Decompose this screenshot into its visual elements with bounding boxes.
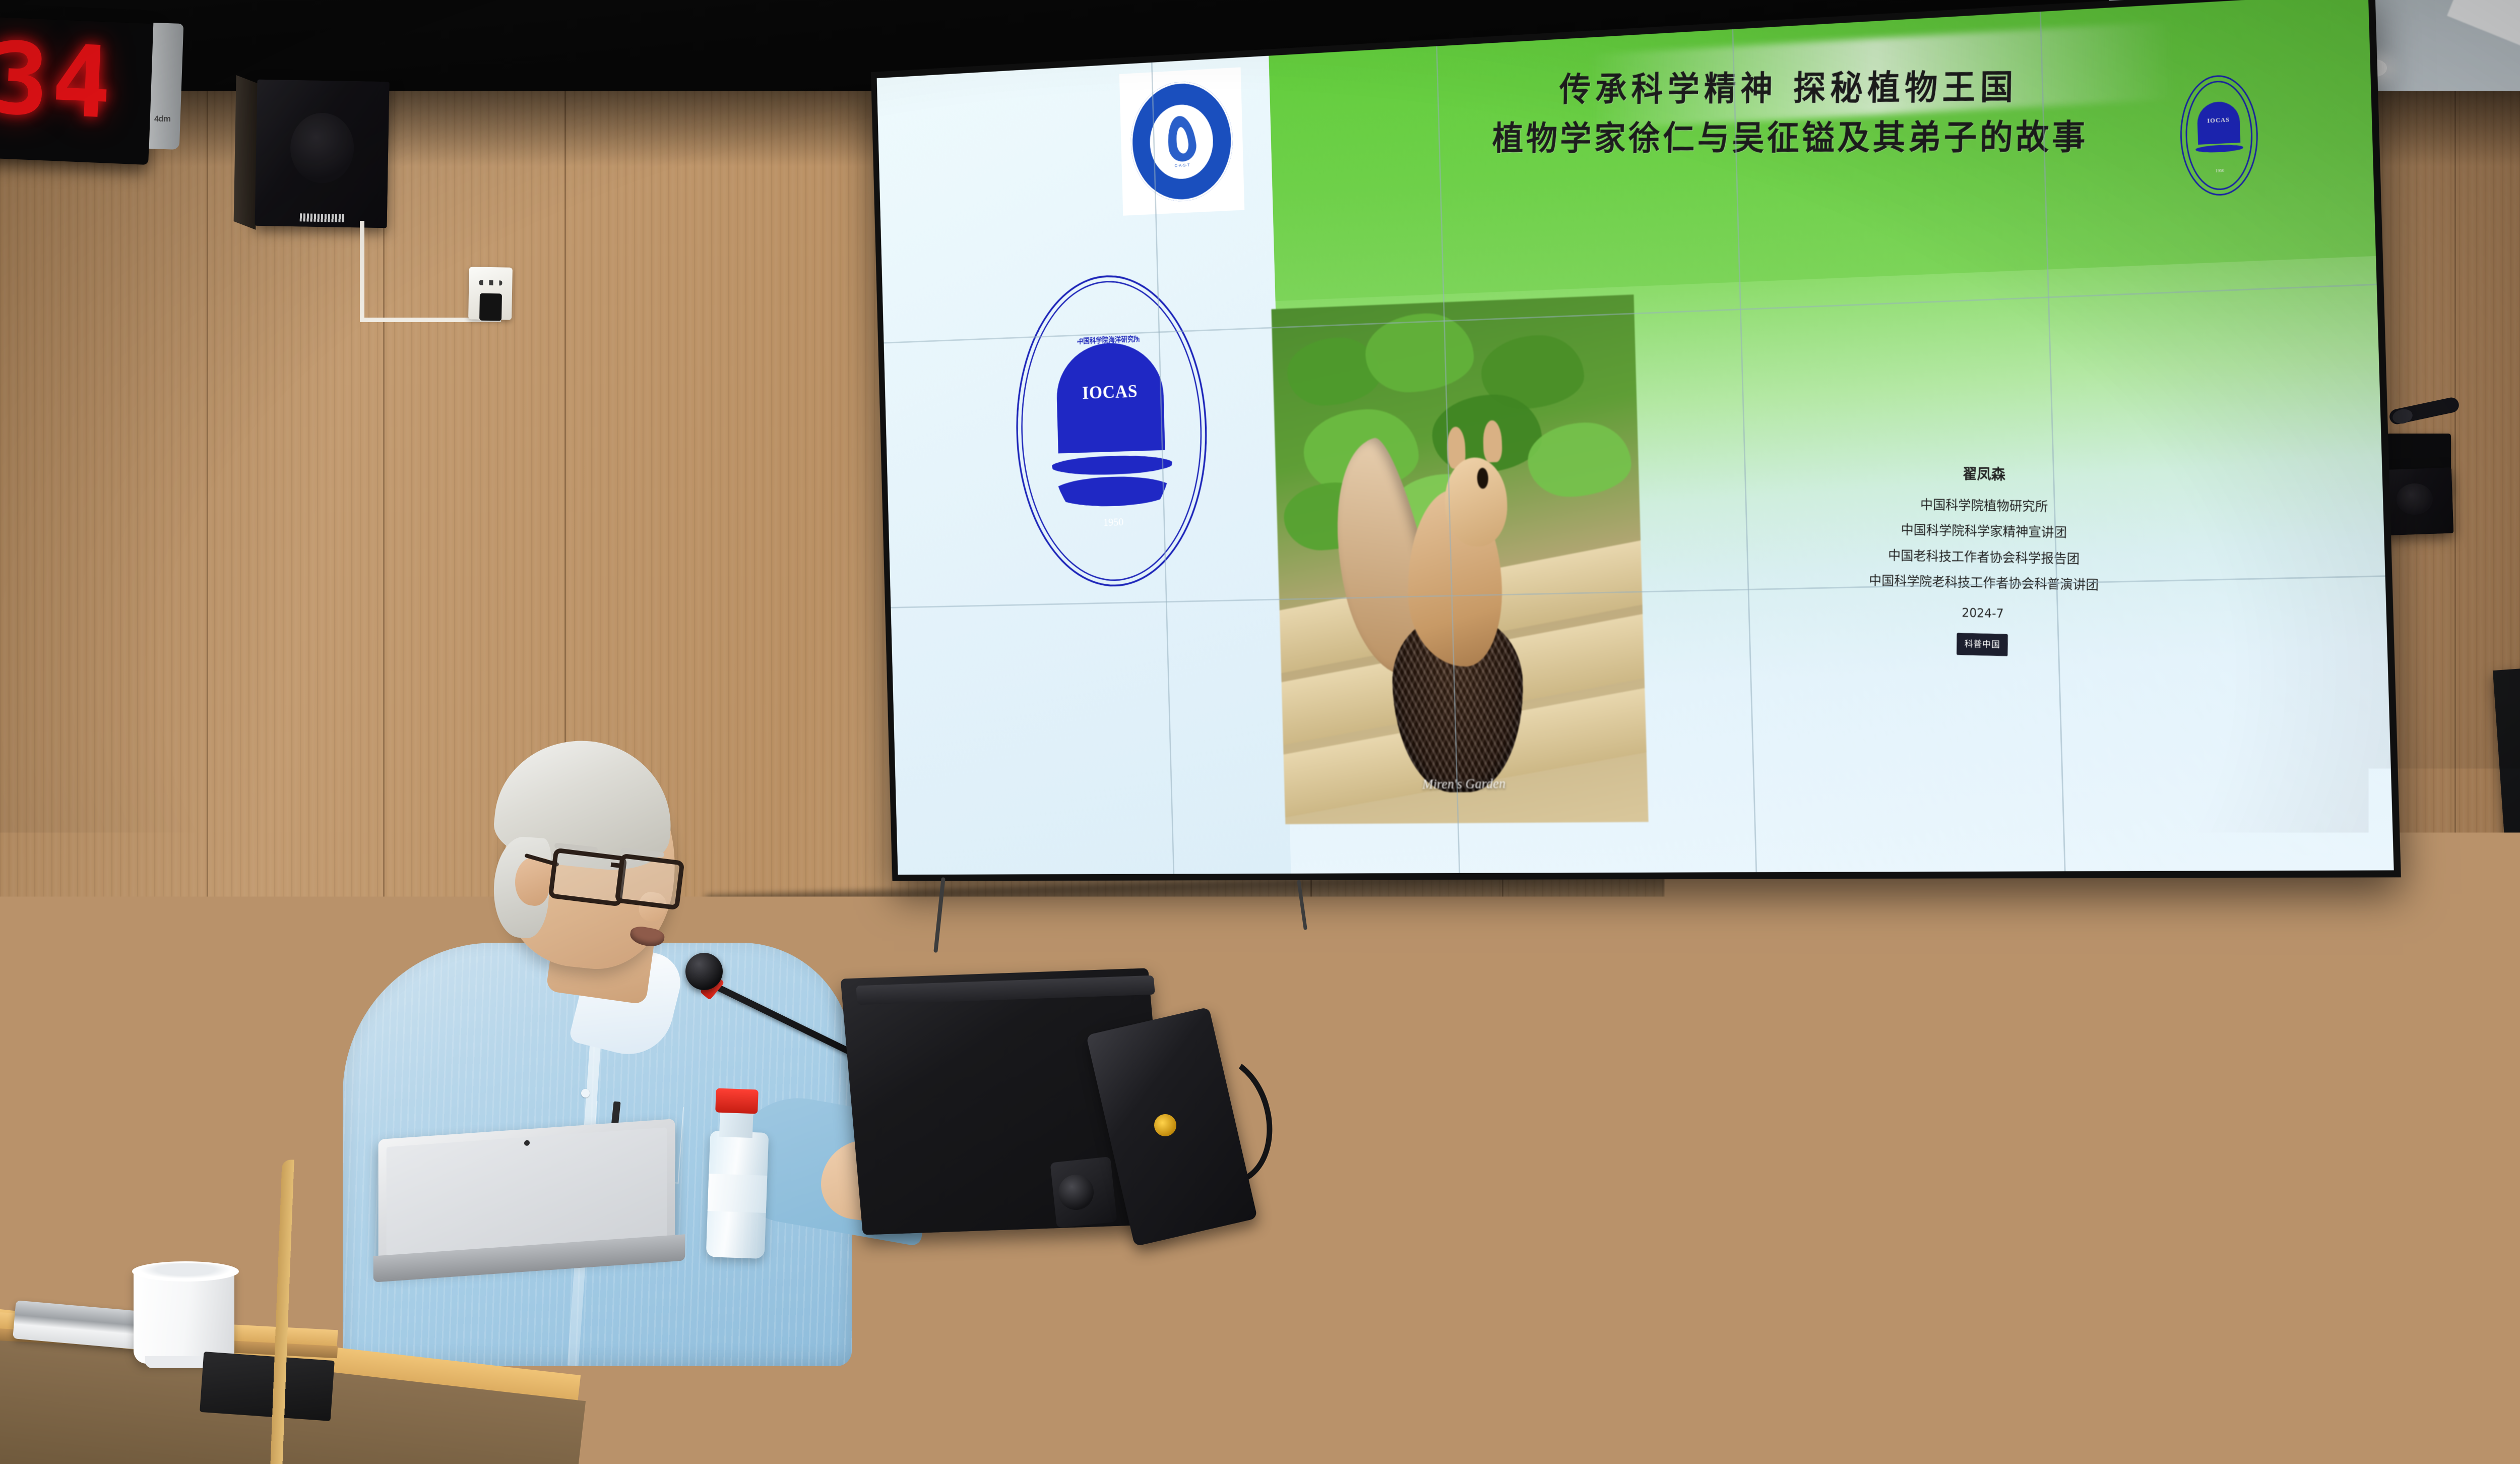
cast-logo-box: C·A·S·T bbox=[1119, 67, 1244, 215]
slide-title-line-2: 植物学家徐仁与吴征镒及其弟子的故事 bbox=[1296, 111, 2305, 163]
digital-wall-clock: 34 bbox=[0, 17, 154, 165]
video-wall-screen: 中国科学院海洋研究所 IOCAS 1950 C·A·S·T bbox=[877, 0, 2394, 875]
outlet-plug bbox=[479, 293, 502, 321]
iocas-wave-2 bbox=[1051, 475, 1174, 508]
microphone-head bbox=[685, 953, 723, 990]
clock-bezel bbox=[149, 23, 184, 150]
bottle-cap[interactable] bbox=[715, 1088, 759, 1114]
iocas-core-small: IOCAS 1950 bbox=[2192, 94, 2245, 176]
glasses-lens-right bbox=[615, 853, 685, 910]
iocas-acronym: IOCAS bbox=[1046, 379, 1174, 405]
side-equipment-box bbox=[2465, 992, 2520, 1125]
squirrel-photo: Miren's Garden bbox=[1272, 294, 1649, 824]
iocas-year-small: 1950 bbox=[2194, 167, 2245, 174]
coffee-mug[interactable] bbox=[134, 1268, 234, 1364]
speaker-cable-vertical bbox=[360, 221, 364, 322]
wall-plate-a bbox=[1628, 1135, 1667, 1182]
cast-inner-disc: C·A·S·T bbox=[1149, 103, 1214, 180]
cast-ring: C·A·S·T bbox=[1129, 79, 1234, 204]
podium-venue-label: MUCAS bbox=[395, 1324, 631, 1402]
lecture-hall-photo: 34 4dm bbox=[0, 0, 2520, 1464]
leaf bbox=[1527, 421, 1632, 498]
wall-speaker-left bbox=[255, 80, 389, 228]
flame-icon bbox=[1165, 114, 1198, 164]
iocas-core: 中国科学院海洋研究所 IOCAS 1950 bbox=[1045, 324, 1178, 537]
iocas-year: 1950 bbox=[1050, 515, 1177, 531]
clock-digits: 34 bbox=[0, 29, 116, 133]
slide-title: 传承科学精神 探秘植物王国 植物学家徐仁与吴征镒及其弟子的故事 bbox=[1296, 60, 2306, 163]
slide-title-line-1: 传承科学精神 探秘植物王国 bbox=[1297, 60, 2306, 115]
power-outlet[interactable] bbox=[468, 267, 513, 320]
monitor-ball-joint bbox=[1058, 1175, 1094, 1210]
clock-brand-label: 4dm bbox=[154, 114, 170, 124]
presentation-slide: 中国科学院海洋研究所 IOCAS 1950 C·A·S·T bbox=[877, 0, 2394, 875]
wall-plate-right bbox=[2388, 1022, 2418, 1058]
cast-latin-text: C·A·S·T bbox=[1174, 162, 1190, 168]
speaker-side-panel bbox=[234, 75, 259, 230]
iocas-wave-small-1 bbox=[2195, 144, 2243, 153]
speaker-badge bbox=[300, 213, 345, 222]
shirt-button bbox=[581, 1089, 590, 1097]
wall-plate-b bbox=[1709, 1128, 1747, 1175]
squirrel-eye bbox=[1477, 468, 1488, 489]
led-video-wall[interactable]: 中国科学院海洋研究所 IOCAS 1950 C·A·S·T bbox=[871, 0, 2401, 881]
kepu-badge: 科普中国 bbox=[1957, 633, 2008, 656]
slide-body-text: 翟凤森 中国科学院植物研究所 中国科学院科学家精神宣讲团 中国老科技工作者协会科… bbox=[1675, 456, 2303, 663]
podium bbox=[276, 1143, 863, 1464]
iocas-wave-1 bbox=[1051, 454, 1174, 477]
mug-rim bbox=[132, 1261, 239, 1282]
outlet-socket-holes bbox=[479, 280, 502, 286]
photo-watermark: Miren's Garden bbox=[1312, 774, 1618, 793]
